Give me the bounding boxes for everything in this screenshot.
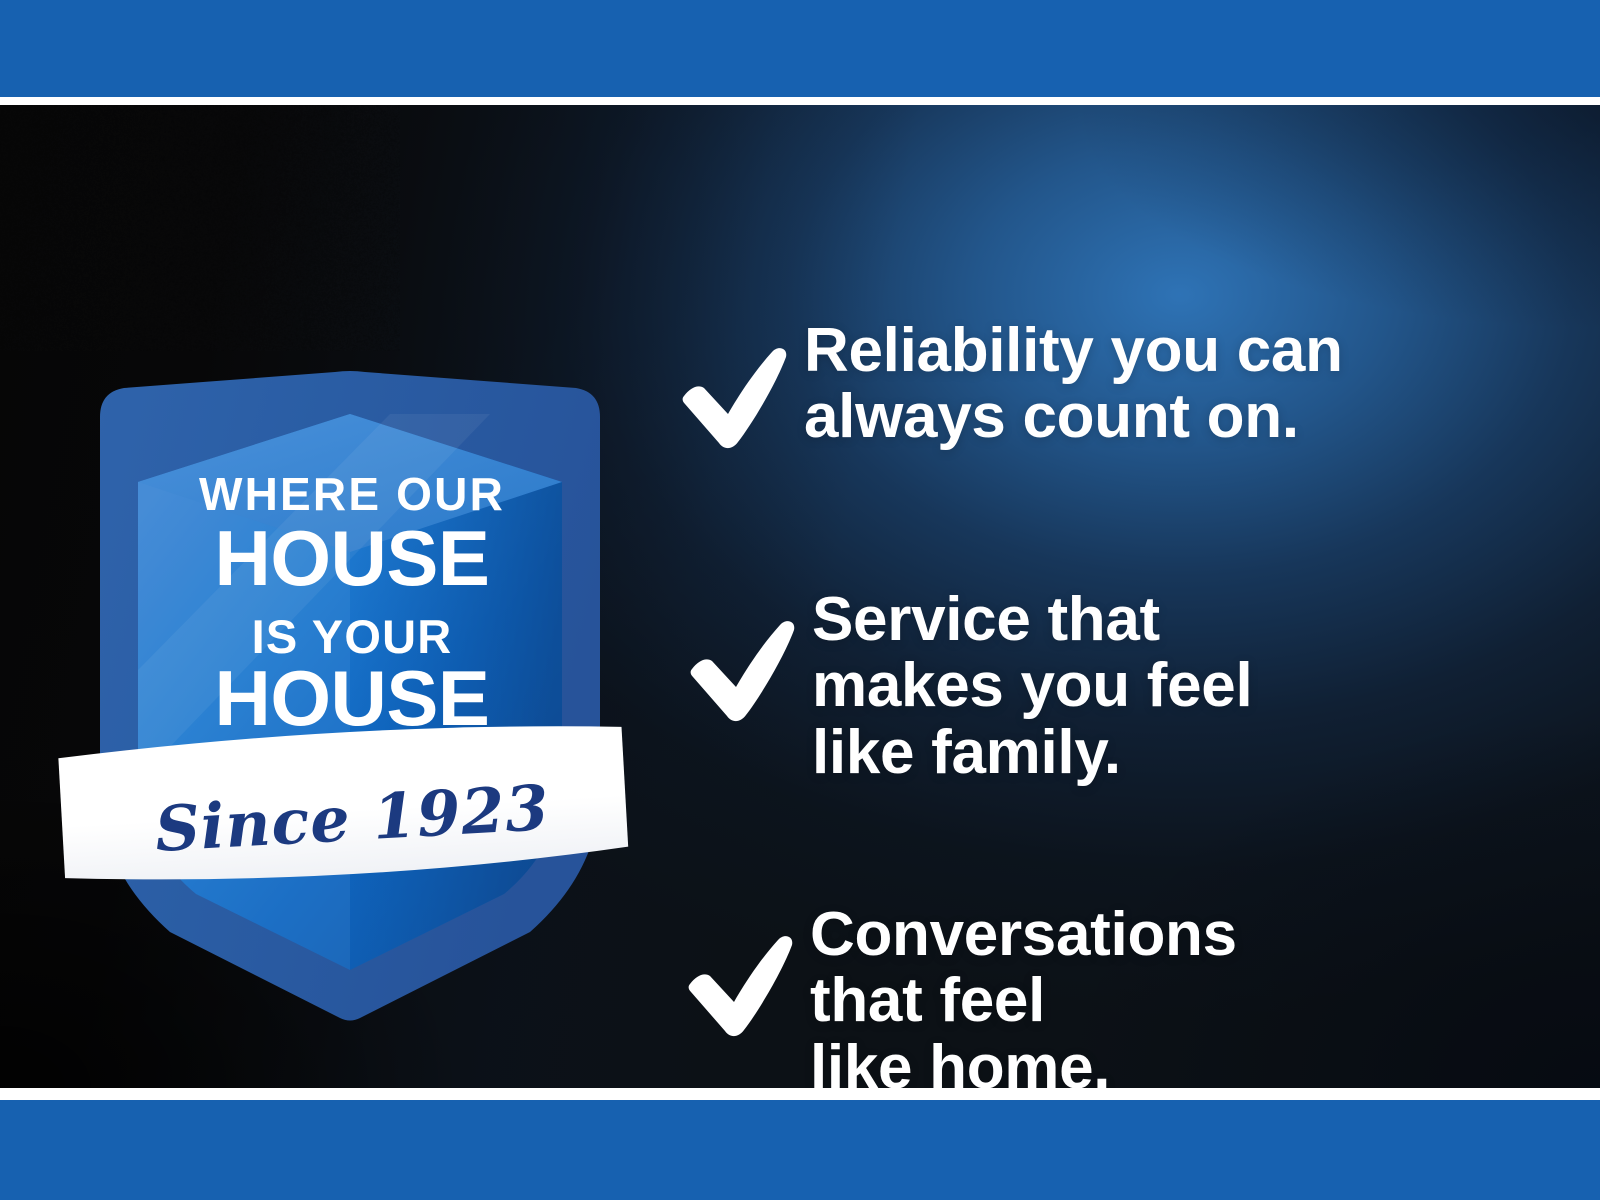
list-item: Conversations that feel like home. — [682, 902, 1237, 1088]
list-item-label: Service that makes you feel like family. — [812, 587, 1252, 786]
benefits-list: Reliability you can always count on. Ser… — [676, 210, 1536, 1088]
list-item-label: Reliability you can always count on. — [804, 318, 1343, 451]
badge-line-2: HOUSE — [215, 514, 490, 602]
list-item: Service that makes you feel like family. — [684, 587, 1252, 786]
promo-graphic: WHERE OUR HOUSE IS YOUR HOUSE Since 1923 — [0, 0, 1600, 1200]
top-accent-bar — [0, 0, 1600, 97]
list-item-label: Conversations that feel like home. — [810, 902, 1237, 1088]
list-item: Reliability you can always count on. — [676, 318, 1343, 452]
company-badge: WHERE OUR HOUSE IS YOUR HOUSE Since 1923 — [60, 370, 640, 1040]
background-grain-texture — [0, 105, 400, 351]
bottom-accent-bar — [0, 1100, 1600, 1200]
checkmark-icon — [676, 340, 794, 452]
badge-line-1: WHERE OUR — [199, 468, 505, 520]
main-panel: WHERE OUR HOUSE IS YOUR HOUSE Since 1923 — [0, 105, 1600, 1088]
checkmark-icon — [682, 928, 800, 1040]
checkmark-icon — [684, 613, 802, 725]
